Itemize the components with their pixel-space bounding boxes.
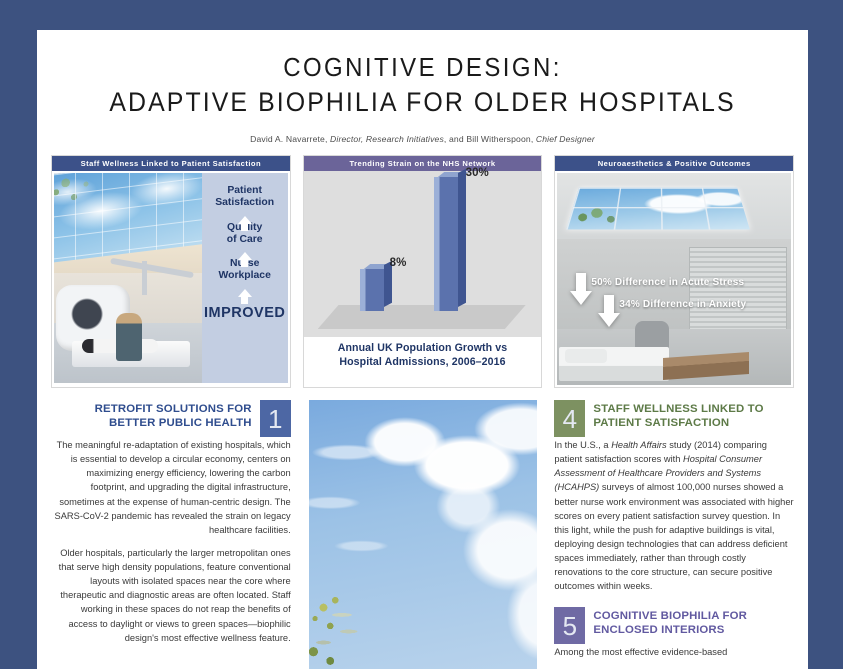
chain-outcome-label: IMPROVED — [204, 305, 285, 321]
byline-role-2: Chief Designer — [536, 134, 595, 144]
s4-text-a: In the U.S., a — [554, 440, 611, 450]
title-line-2: ADAPTIVE BIOPHILIA FOR OLDER HOSPITALS — [60, 85, 785, 119]
column-left: RETROFIT SOLUTIONS FOR BETTER PUBLIC HEA… — [51, 400, 291, 669]
chart-caption-line-1: Annual UK Population Growth vs — [304, 341, 542, 355]
section-4-title-line-2: PATIENT SATISFACTION — [593, 417, 763, 431]
section-5-title-line-1: COGNITIVE BIOPHILIA FOR — [593, 610, 747, 624]
section-1-header: RETROFIT SOLUTIONS FOR BETTER PUBLIC HEA… — [51, 400, 291, 437]
bar-hospital-admissions — [434, 177, 458, 311]
bar-side-face — [458, 169, 466, 307]
chain-step-3-line-2: Workplace — [218, 270, 270, 282]
figure-1-header: Staff Wellness Linked to Patient Satisfa… — [52, 156, 290, 171]
section-4-number: 4 — [554, 400, 585, 437]
section-4-title: STAFF WELLNESS LINKED TO PATIENT SATISFA… — [593, 400, 763, 430]
section-5-title: COGNITIVE BIOPHILIA FOR ENCLOSED INTERIO… — [593, 607, 747, 637]
bar-value-label-2: 30% — [466, 167, 489, 179]
tree-branch — [309, 591, 389, 669]
page-title: COGNITIVE DESIGN: ADAPTIVE BIOPHILIA FOR… — [60, 52, 785, 120]
chain-step-patient-satisfaction: Patient Satisfaction — [215, 185, 274, 210]
figure-staff-wellness: Staff Wellness Linked to Patient Satisfa… — [51, 155, 291, 388]
figure-2-header: Trending Strain on the NHS Network — [304, 156, 542, 171]
figure-nhs-strain: Trending Strain on the NHS Network — [303, 155, 543, 388]
s4-em-health-affairs: Health Affairs — [611, 440, 666, 450]
stat-acute-stress: 50% Difference in Acute Stress — [581, 277, 744, 288]
nurse-figure — [116, 313, 142, 361]
figure-panel-row: Staff Wellness Linked to Patient Satisfa… — [51, 155, 794, 388]
poster-frame: COGNITIVE DESIGN: ADAPTIVE BIOPHILIA FOR… — [0, 0, 843, 669]
bar-front-face — [360, 269, 384, 311]
section-1-number: 1 — [260, 400, 291, 437]
title-line-1: COGNITIVE DESIGN: — [60, 52, 785, 85]
section-5-number: 5 — [554, 607, 585, 644]
masthead: COGNITIVE DESIGN: ADAPTIVE BIOPHILIA FOR… — [37, 30, 808, 144]
section-5-header: 5 COGNITIVE BIOPHILIA FOR ENCLOSED INTER… — [554, 607, 794, 644]
chart-caption-line-2: Hospital Admissions, 2006–2016 — [304, 355, 542, 369]
stat-acute-stress-label: 50% Difference in Acute Stress — [591, 277, 744, 288]
stat-anxiety-label: 34% Difference in Anxiety — [619, 299, 746, 310]
section-4-header: 4 STAFF WELLNESS LINKED TO PATIENT SATIS… — [554, 400, 794, 437]
column-middle — [303, 400, 543, 669]
chart-baseplate — [318, 305, 526, 329]
figure-neuroaesthetics: Neuroaesthetics & Positive Outcomes — [554, 155, 794, 388]
section-1-paragraph-2: Older hospitals, particularly the larger… — [51, 546, 291, 645]
stats-overlay: 50% Difference in Acute Stress 34% Diffe… — [557, 173, 791, 385]
figure-3-body: 50% Difference in Acute Stress 34% Diffe… — [555, 171, 793, 387]
section-1-title-line-1: RETROFIT SOLUTIONS FOR — [95, 403, 252, 417]
figure-1-body: Patient Satisfaction Quality of Care Nur… — [52, 171, 290, 387]
section-1-title: RETROFIT SOLUTIONS FOR BETTER PUBLIC HEA… — [95, 400, 252, 430]
figure-3-header: Neuroaesthetics & Positive Outcomes — [555, 156, 793, 171]
bar-population-growth — [360, 269, 384, 311]
s4-text-c: surveys of almost 100,000 nurses showed … — [554, 482, 793, 591]
chain-step-2-line-2: of Care — [227, 234, 263, 246]
patient-room-photo: 50% Difference in Acute Stress 34% Diffe… — [557, 173, 791, 385]
figure-2-body: 8% 30% Annual UK Population Growth vs Ho… — [304, 171, 542, 387]
chain-step-1-line-1: Patient — [215, 185, 274, 197]
author-byline: David A. Navarrete, Director, Research I… — [37, 134, 808, 144]
bar-value-label-1: 8% — [390, 257, 407, 269]
poster-page: COGNITIVE DESIGN: ADAPTIVE BIOPHILIA FOR… — [37, 30, 808, 669]
byline-author-1: David A. Navarrete, — [250, 134, 330, 144]
section-1-title-line-2: BETTER PUBLIC HEALTH — [95, 417, 252, 431]
bar-chart: 8% 30% — [304, 171, 542, 337]
chain-step-1-line-2: Satisfaction — [215, 197, 274, 209]
section-5-paragraph-1: Among the most effective evidence-based — [554, 645, 794, 659]
section-4-title-line-1: STAFF WELLNESS LINKED TO — [593, 403, 763, 417]
article-columns: RETROFIT SOLUTIONS FOR BETTER PUBLIC HEA… — [51, 400, 794, 669]
wellness-chain: Patient Satisfaction Quality of Care Nur… — [202, 173, 288, 383]
byline-role-1: Director, Research Initiatives — [330, 134, 444, 144]
section-5-title-line-2: ENCLOSED INTERIORS — [593, 624, 747, 638]
byline-author-2: , and Bill Witherspoon, — [444, 134, 536, 144]
chart-caption: Annual UK Population Growth vs Hospital … — [304, 341, 542, 370]
sky-photo — [309, 400, 537, 669]
stat-anxiety: 34% Difference in Anxiety — [609, 299, 746, 310]
bar-front-face — [434, 177, 458, 311]
cloud-lower — [377, 470, 537, 669]
section-1-paragraph-1: The meaningful re-adaptation of existing… — [51, 438, 291, 537]
mri-room-photo — [54, 173, 202, 383]
column-right: 4 STAFF WELLNESS LINKED TO PATIENT SATIS… — [554, 400, 794, 669]
section-4-paragraph-1: In the U.S., a Health Affairs study (201… — [554, 438, 794, 593]
